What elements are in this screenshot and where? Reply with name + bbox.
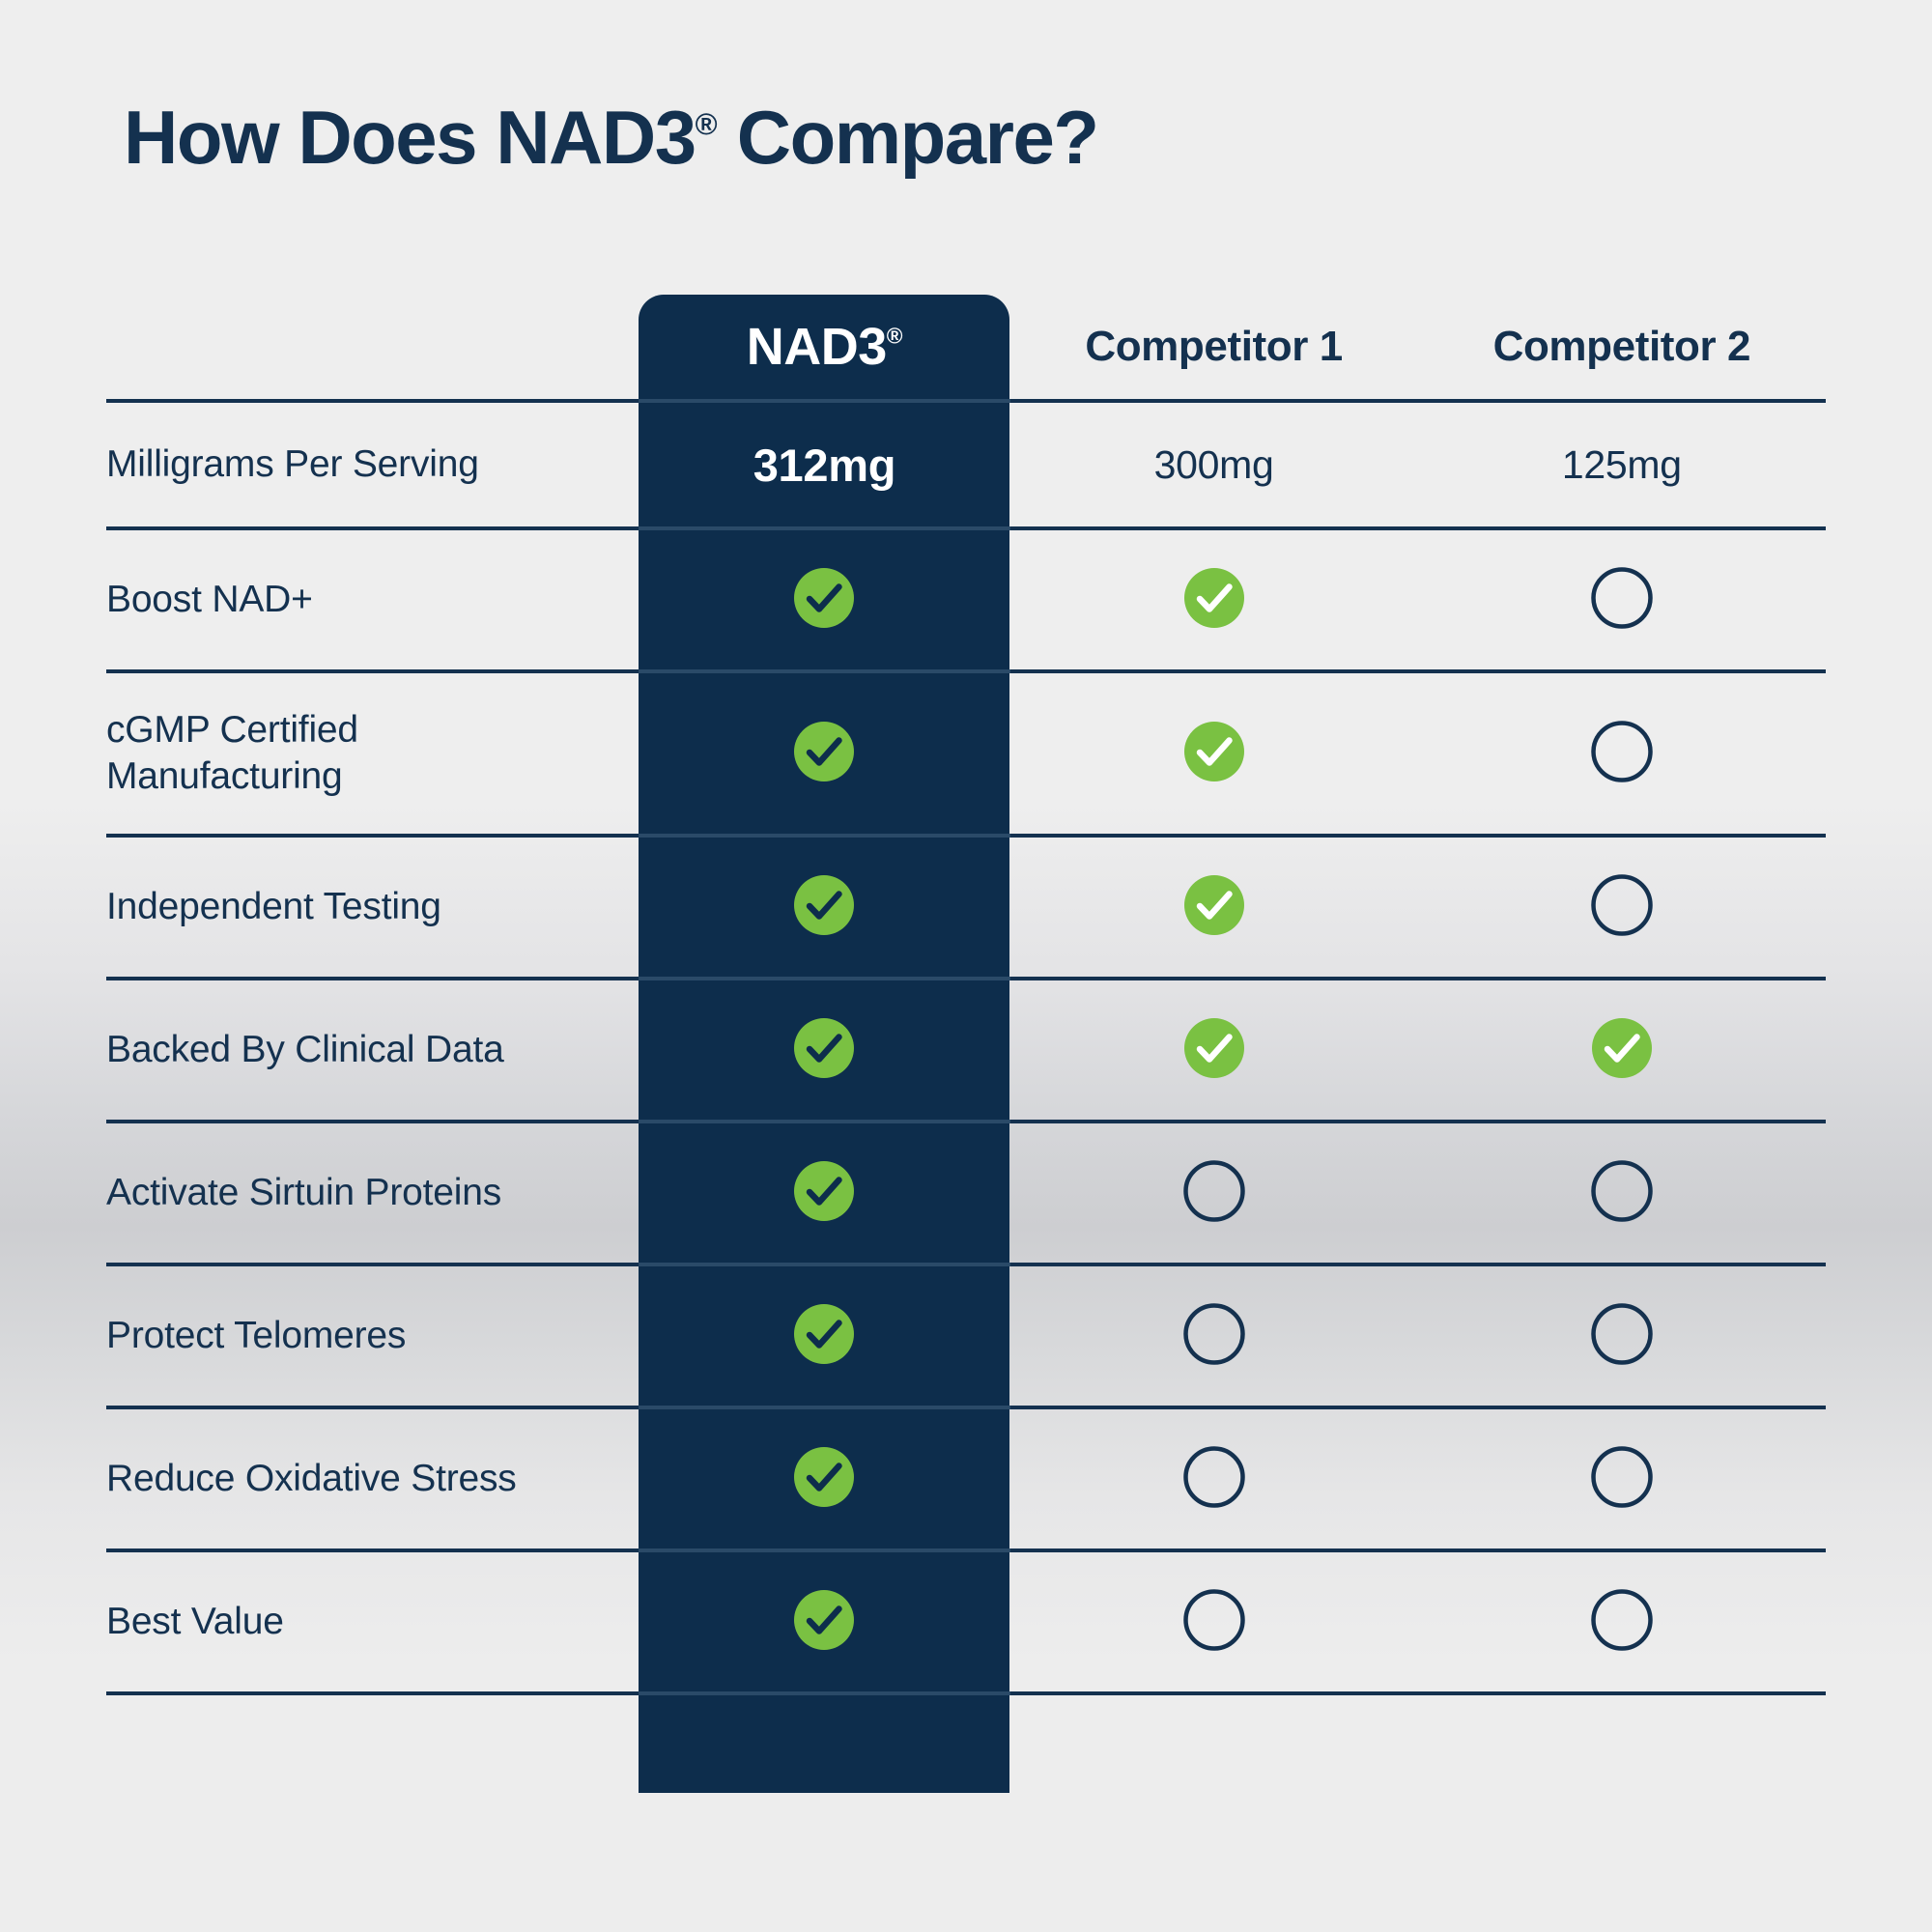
circle-outline-icon [1591,721,1653,782]
registered-trademark-icon: ® [887,323,902,348]
comparison-table: NAD3® Competitor 1 Competitor 2 Milligra… [106,295,1826,1695]
circle-outline-icon [1591,1446,1653,1508]
circle-outline-icon [1591,1303,1653,1365]
cell-nad3 [639,671,1009,836]
cell-competitor-1: 300mg [1010,401,1418,528]
check-circle-filled-icon [1183,874,1245,936]
check-circle-filled-icon [793,1160,855,1222]
circle-outline-icon [1183,1446,1245,1508]
table-row: Milligrams Per Serving312mg300mg125mg [106,401,1826,528]
cell-nad3 [639,1122,1009,1264]
table-header: NAD3® Competitor 1 Competitor 2 [106,295,1826,401]
table-row: cGMP Certified Manufacturing [106,671,1826,836]
circle-outline-icon [1183,1303,1245,1365]
table-row: Activate Sirtuin Proteins [106,1122,1826,1264]
cell-competitor-2: 125mg [1418,401,1826,528]
row-label: Protect Telomeres [106,1264,639,1407]
check-circle-filled-icon [793,874,855,936]
row-label: Boost NAD+ [106,528,639,671]
table-row: Reduce Oxidative Stress [106,1407,1826,1550]
circle-outline-icon [1591,1160,1653,1222]
table-body: Milligrams Per Serving312mg300mg125mgBoo… [106,401,1826,1693]
page-title: How Does NAD3® Compare? [124,99,1097,175]
cell-competitor-2 [1418,836,1826,979]
check-circle-filled-icon [1183,1017,1245,1079]
check-circle-filled-icon [793,567,855,629]
cell-nad3 [639,1407,1009,1550]
row-label: Milligrams Per Serving [106,401,639,528]
circle-outline-icon [1591,1589,1653,1651]
cell-competitor-2 [1418,1122,1826,1264]
check-circle-filled-icon [793,1303,855,1365]
cell-nad3 [639,836,1009,979]
row-label: Activate Sirtuin Proteins [106,1122,639,1264]
page-title-text-before: How Does NAD3 [124,95,696,180]
cell-competitor-2 [1418,671,1826,836]
column-header-nad3: NAD3® [639,295,1009,401]
table-row: Boost NAD+ [106,528,1826,671]
row-label: cGMP Certified Manufacturing [106,671,639,836]
cell-competitor-2 [1418,1550,1826,1693]
table-row: Backed By Clinical Data [106,979,1826,1122]
row-label: Best Value [106,1550,639,1693]
table-row: Independent Testing [106,836,1826,979]
column-header-feature [106,295,639,401]
table-row: Best Value [106,1550,1826,1693]
check-circle-filled-icon [793,1589,855,1651]
cell-competitor-1 [1010,528,1418,671]
cell-competitor-1 [1010,671,1418,836]
check-circle-filled-icon [1183,567,1245,629]
column-header-competitor-1: Competitor 1 [1010,295,1418,401]
cell-competitor-2 [1418,1407,1826,1550]
cell-nad3 [639,1264,1009,1407]
column-header-competitor-2: Competitor 2 [1418,295,1826,401]
check-circle-filled-icon [1183,721,1245,782]
cell-competitor-1 [1010,1264,1418,1407]
cell-competitor-1 [1010,1407,1418,1550]
cell-nad3 [639,979,1009,1122]
check-circle-filled-icon [793,1446,855,1508]
cell-nad3: 312mg [639,401,1009,528]
cell-competitor-2 [1418,979,1826,1122]
cell-nad3 [639,1550,1009,1693]
page-title-text-after: Compare? [718,95,1098,180]
circle-outline-icon [1183,1589,1245,1651]
circle-outline-icon [1183,1160,1245,1222]
cell-competitor-1 [1010,1122,1418,1264]
circle-outline-icon [1591,567,1653,629]
check-circle-filled-icon [793,1017,855,1079]
cell-competitor-2 [1418,528,1826,671]
row-label: Reduce Oxidative Stress [106,1407,639,1550]
check-circle-filled-icon [793,721,855,782]
cell-competitor-2 [1418,1264,1826,1407]
table-row: Protect Telomeres [106,1264,1826,1407]
cell-competitor-1 [1010,979,1418,1122]
comparison-infographic: How Does NAD3® Compare? NAD3® Competitor… [0,0,1932,1932]
circle-outline-icon [1591,874,1653,936]
registered-trademark-icon: ® [696,107,718,141]
check-circle-filled-icon [1591,1017,1653,1079]
column-header-nad3-label: NAD3 [747,318,887,376]
cell-nad3 [639,528,1009,671]
row-label: Independent Testing [106,836,639,979]
row-label: Backed By Clinical Data [106,979,639,1122]
cell-competitor-1 [1010,1550,1418,1693]
cell-competitor-1 [1010,836,1418,979]
table-header-row: NAD3® Competitor 1 Competitor 2 [106,295,1826,401]
